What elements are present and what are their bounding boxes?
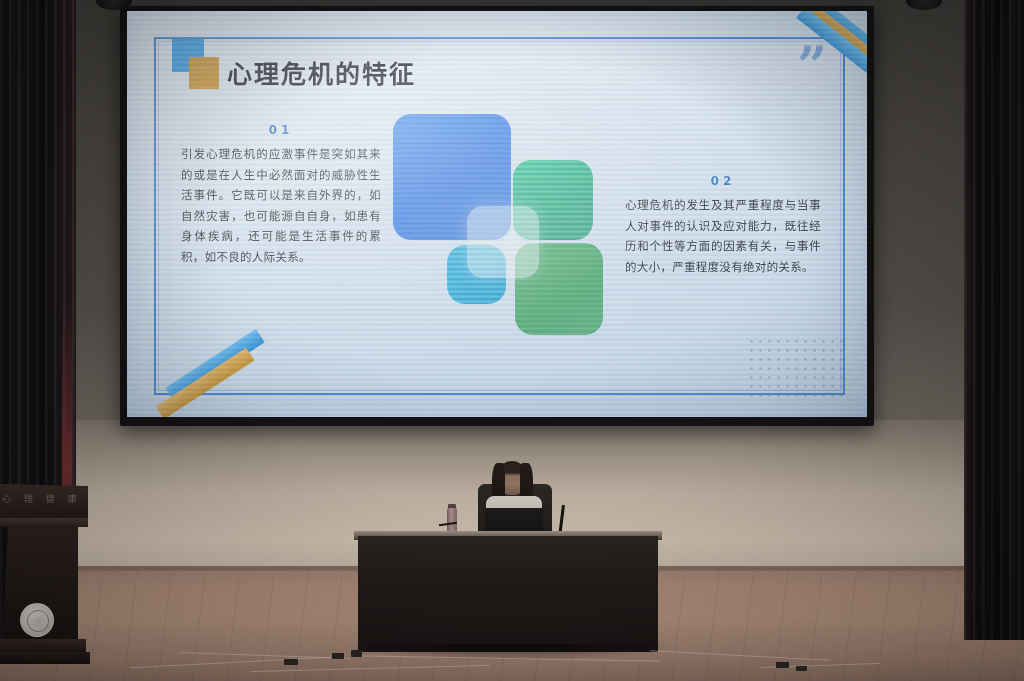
podium-base-plinth: [0, 652, 90, 664]
podium-lip: [0, 518, 88, 527]
title-accent-square-orange: [189, 57, 219, 89]
rounded-square-overlay-translucent: [467, 206, 539, 278]
podium-top: 心 理 健 康: [0, 484, 88, 518]
auditorium-scene: 心理危机的特征 ” 01 引发心理危机的应激事件是突如其来的或是在人生中必然面对…: [0, 0, 1024, 681]
projection-screen[interactable]: 心理危机的特征 ” 01 引发心理危机的应激事件是突如其来的或是在人生中必然面对…: [127, 11, 867, 417]
rounded-square-cluster: [385, 106, 625, 346]
cable-connector: [796, 666, 807, 671]
column-body-01: 引发心理危机的应激事件是突如其来的或是在人生中必然面对的威胁性生活事件。它既可以…: [181, 144, 381, 267]
podium: 心 理 健 康: [0, 484, 94, 674]
slide-column-02: 02 心理危机的发生及其严重程度与当事人对事件的认识及应对能力，既往经历和个性等…: [625, 174, 821, 277]
cable-connector: [351, 650, 362, 657]
dot-grid-decoration: [747, 337, 847, 399]
curtain-folds: [964, 0, 1024, 640]
cable-connector: [776, 662, 789, 668]
cable-connector: [284, 659, 298, 665]
presenter-desk: [358, 536, 658, 652]
curtain-right: [964, 0, 1024, 640]
cable-connector: [332, 653, 344, 659]
column-number-02: 02: [625, 174, 821, 188]
podium-emblem-inner: [27, 610, 49, 632]
podium-body: [2, 527, 78, 645]
podium-engraving: 心 理 健 康: [2, 492, 82, 505]
column-number-01: 01: [181, 123, 381, 137]
podium-emblem-icon: [20, 603, 54, 637]
column-body-02: 心理危机的发生及其严重程度与当事人对事件的认识及应对能力，既往经历和个性等方面的…: [625, 195, 821, 277]
quote-mark-icon: ”: [797, 49, 825, 85]
slide-title: 心理危机的特征: [227, 55, 416, 91]
slide-column-01: 01 引发心理危机的应激事件是突如其来的或是在人生中必然面对的威胁性生活事件。它…: [181, 123, 381, 267]
